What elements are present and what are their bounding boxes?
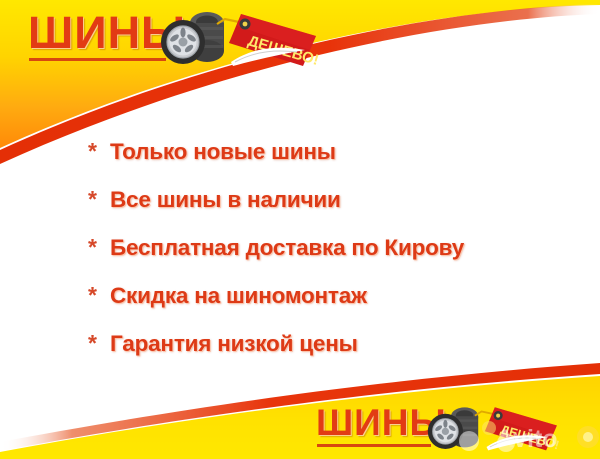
bullet-marker-icon: * (88, 328, 110, 358)
benefit-item: * Бесплатная доставка по Кирову (88, 232, 583, 280)
bullet-marker-icon: * (88, 136, 110, 166)
benefit-item: * Гарантия низкой цены (88, 328, 583, 376)
benefit-text: Скидка на шиномонтаж (110, 281, 367, 311)
header-logo: ШИНЫ (28, 8, 328, 70)
benefits-list: * Только новые шины * Все шины в наличии… (88, 136, 583, 376)
benefit-item: * Все шины в наличии (88, 184, 583, 232)
benefit-text: Гарантия низкой цены (110, 329, 358, 359)
avito-watermark: Avito (456, 417, 600, 455)
bullet-marker-icon: * (88, 232, 110, 262)
benefit-text: Все шины в наличии (110, 185, 341, 215)
benefit-item: * Скидка на шиномонтаж (88, 280, 583, 328)
bullet-marker-icon: * (88, 280, 110, 310)
footer-logo-underline (317, 444, 431, 447)
benefit-item: * Только новые шины (88, 136, 583, 184)
bullet-marker-icon: * (88, 184, 110, 214)
price-tag-icon: ДЕШЕВО! (211, 10, 321, 68)
header-logo-underline (29, 58, 166, 61)
benefit-text: Только новые шины (110, 137, 336, 167)
tire-shop-advertisement: ШИНЫ (0, 0, 600, 459)
benefit-text: Бесплатная доставка по Кирову (110, 233, 464, 263)
avito-watermark-text: Avito (496, 425, 558, 453)
footer-logo: ШИНЫ (316, 403, 600, 455)
